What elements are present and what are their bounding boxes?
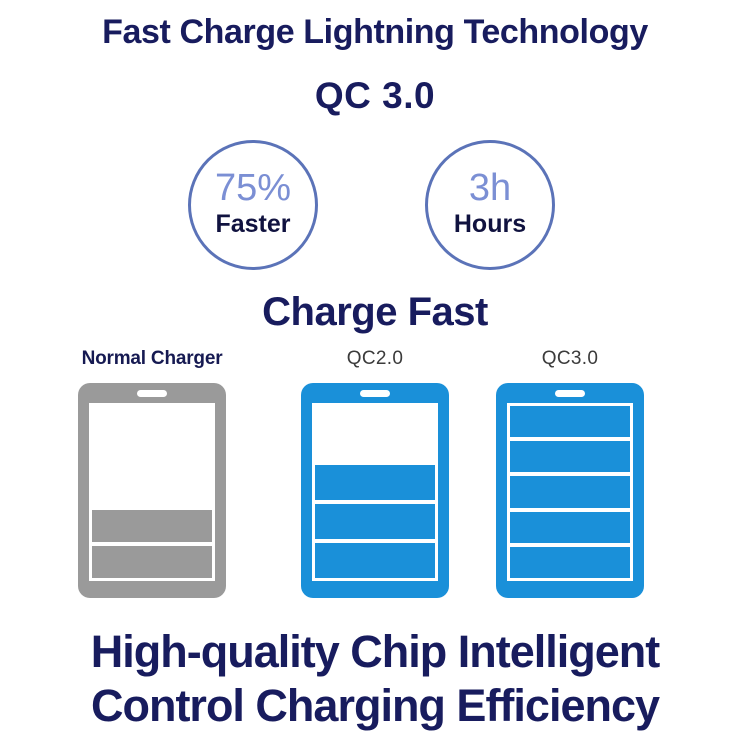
battery-bar bbox=[92, 510, 212, 542]
battery-bar bbox=[510, 512, 630, 543]
footer-headline-line-2: Control Charging Efficiency bbox=[0, 680, 750, 732]
phone-label-qc3: QC3.0 bbox=[470, 348, 670, 372]
phone-illustration-qc2 bbox=[301, 383, 449, 598]
phone-column-normal-charger: Normal Charger bbox=[52, 348, 252, 598]
page-title: Fast Charge Lightning Technology bbox=[0, 12, 750, 52]
stat-label-faster: Faster bbox=[215, 210, 290, 238]
section-title-charge-fast: Charge Fast bbox=[0, 288, 750, 336]
phone-column-qc3: QC3.0 bbox=[470, 348, 670, 598]
phone-speaker-icon bbox=[360, 390, 390, 397]
charge-comparison-group: Normal Charger QC2.0 QC3.0 bbox=[0, 348, 750, 608]
battery-bar bbox=[315, 465, 435, 500]
battery-bar bbox=[510, 441, 630, 472]
phone-column-qc2: QC2.0 bbox=[275, 348, 475, 598]
battery-bar bbox=[315, 543, 435, 578]
footer-headline-line-1: High-quality Chip Intelligent bbox=[0, 626, 750, 678]
battery-level-qc2 bbox=[312, 403, 438, 581]
stat-value-hours: 3h bbox=[469, 168, 511, 208]
battery-bar bbox=[315, 504, 435, 539]
phone-illustration-qc3 bbox=[496, 383, 644, 598]
battery-level-qc3 bbox=[507, 403, 633, 581]
battery-bar bbox=[510, 406, 630, 437]
page-subtitle: QC 3.0 bbox=[0, 74, 750, 118]
phone-speaker-icon bbox=[555, 390, 585, 397]
stat-value-faster: 75% bbox=[215, 168, 291, 208]
phone-label-qc2: QC2.0 bbox=[275, 348, 475, 372]
battery-bar bbox=[92, 546, 212, 578]
promo-banner: Fast Charge Lightning Technology QC 3.0 … bbox=[0, 0, 750, 750]
phone-illustration-normal-charger bbox=[78, 383, 226, 598]
battery-level-normal-charger bbox=[89, 403, 215, 581]
battery-bar bbox=[510, 476, 630, 507]
phone-speaker-icon bbox=[137, 390, 167, 397]
stat-circle-hours: 3h Hours bbox=[425, 140, 555, 270]
phone-label-normal-charger: Normal Charger bbox=[52, 348, 252, 372]
battery-bar bbox=[510, 547, 630, 578]
stat-label-hours: Hours bbox=[454, 210, 526, 238]
stat-circle-faster: 75% Faster bbox=[188, 140, 318, 270]
